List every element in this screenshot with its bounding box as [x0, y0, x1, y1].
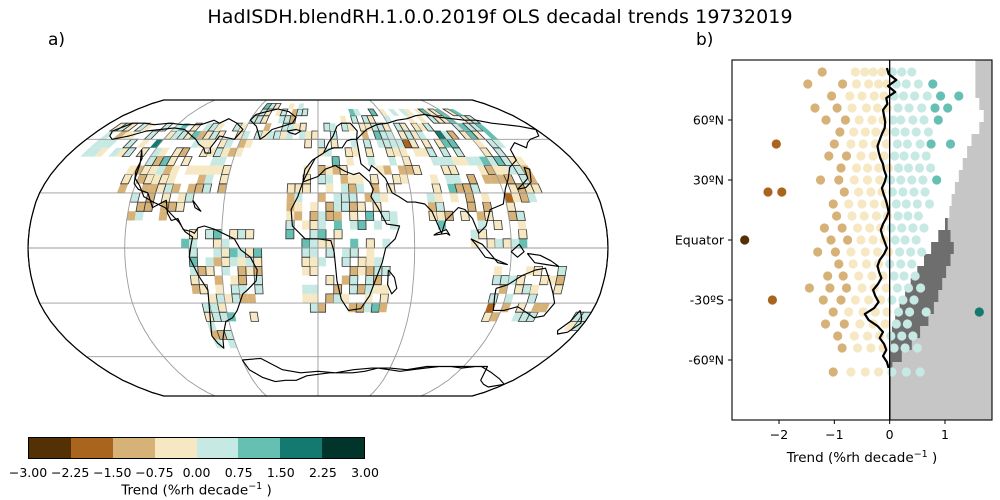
trend-gridcell	[181, 239, 189, 248]
trend-point	[819, 295, 828, 304]
trend-point	[907, 67, 916, 76]
trend-point	[844, 199, 853, 208]
trend-point	[845, 91, 854, 100]
trend-gridcell	[373, 285, 381, 294]
trend-point	[846, 367, 855, 376]
trend-point	[861, 127, 870, 136]
trend-gridcell	[318, 211, 326, 220]
colorbar-label-suffix: )	[262, 483, 272, 499]
trend-point	[899, 151, 908, 160]
trend-gridcell	[324, 123, 330, 131]
trend-gridcell	[254, 266, 262, 275]
trend-point	[917, 247, 926, 256]
trend-point	[936, 91, 945, 100]
trend-point	[839, 271, 848, 280]
trend-gridcell	[302, 221, 310, 230]
trend-point	[916, 367, 925, 376]
colorbar-tick-label: −2.25	[51, 465, 89, 480]
trend-gridcell	[222, 257, 230, 266]
trend-gridcell	[255, 285, 263, 294]
trend-point	[838, 79, 847, 88]
trend-gridcell	[487, 239, 495, 248]
trend-gridcell	[238, 230, 246, 239]
trend-gridcell	[310, 202, 318, 211]
trend-gridcell	[310, 266, 318, 275]
colorbar-tick-label: 0.75	[225, 465, 253, 480]
trend-gridcell	[221, 239, 229, 248]
trend-point	[878, 115, 887, 124]
trend-gridcell	[222, 266, 231, 275]
trend-point	[925, 199, 934, 208]
trend-point	[834, 259, 843, 268]
colorbar-segment-7	[322, 438, 364, 458]
trend-point	[849, 127, 858, 136]
trend-gridcell	[310, 257, 318, 266]
y-tick-label: 60ºN	[693, 113, 724, 128]
trend-point	[855, 319, 864, 328]
trend-point	[825, 283, 834, 292]
trend-point	[909, 295, 918, 304]
trend-gridcell	[221, 248, 229, 257]
trend-point	[912, 127, 921, 136]
trend-point	[847, 211, 856, 220]
trend-point	[903, 211, 912, 220]
panel-b-label: b)	[696, 30, 713, 50]
trend-point	[874, 163, 883, 172]
trend-gridcell	[248, 294, 257, 303]
trend-point	[893, 103, 902, 112]
trend-point	[922, 307, 931, 316]
colorbar-ticks: −3.00−2.25−1.50−0.750.000.751.502.253.00	[28, 459, 365, 477]
colorbar-axis-label: Trend (%rh decade−1 )	[28, 481, 365, 499]
trend-point	[834, 175, 843, 184]
trend-point	[901, 343, 910, 352]
trend-point	[916, 283, 925, 292]
trend-point	[847, 103, 856, 112]
colorbar-tick-label: −3.00	[9, 465, 47, 480]
colorbar-segment-2	[113, 438, 155, 458]
trend-point	[874, 367, 883, 376]
trend-gridcell	[202, 184, 212, 193]
trend-gridcell	[318, 257, 326, 266]
trend-point	[918, 175, 927, 184]
trend-gridcell	[310, 248, 318, 257]
trend-gridcell	[239, 285, 248, 294]
trend-gridcell	[318, 139, 325, 148]
colorbar-tick-label: 1.50	[267, 465, 295, 480]
trend-gridcell	[231, 285, 240, 294]
trend-point	[943, 103, 952, 112]
trend-gridcell	[380, 294, 389, 303]
trend-gridcell	[302, 109, 308, 116]
trend-gridcell	[348, 175, 356, 184]
trend-point	[833, 331, 842, 340]
trend-gridcell	[229, 248, 237, 257]
trend-point	[919, 223, 928, 232]
trend-point	[897, 331, 906, 340]
trend-point	[844, 307, 853, 316]
trend-point	[908, 115, 917, 124]
colorbar	[28, 437, 365, 459]
trend-point	[927, 139, 936, 148]
trend-point	[772, 139, 781, 148]
trend-gridcell	[380, 193, 389, 202]
trend-point	[916, 139, 925, 148]
trend-point	[821, 319, 830, 328]
trend-gridcell	[366, 211, 374, 220]
trend-point	[907, 259, 916, 268]
trend-point	[824, 151, 833, 160]
trend-gridcell	[215, 285, 224, 294]
trend-point	[842, 151, 851, 160]
trend-point	[890, 151, 899, 160]
trend-gridcell	[503, 239, 511, 248]
trend-point	[906, 247, 915, 256]
trend-gridcell	[366, 248, 374, 257]
trend-point	[850, 175, 859, 184]
trend-gridcell	[357, 202, 365, 211]
trend-point	[840, 187, 849, 196]
trend-point	[854, 187, 863, 196]
trend-gridcell	[465, 193, 475, 202]
trend-point	[877, 67, 886, 76]
trend-point	[849, 259, 858, 268]
trend-gridcell	[349, 202, 357, 211]
trend-point	[854, 271, 863, 280]
trend-gridcell	[135, 211, 144, 220]
trend-point	[892, 319, 901, 328]
trend-gridcell	[246, 266, 254, 275]
trend-gridcell	[341, 184, 349, 193]
trend-point	[855, 115, 864, 124]
trend-gridcell	[495, 239, 503, 248]
trend-point	[924, 127, 933, 136]
trend-point	[909, 187, 918, 196]
trend-gridcell	[358, 257, 366, 266]
trend-point	[820, 223, 829, 232]
map-panel	[8, 52, 628, 422]
trend-point	[934, 115, 943, 124]
colorbar-segment-5	[238, 438, 280, 458]
trend-gridcell	[445, 211, 454, 220]
trend-gridcell	[302, 285, 310, 294]
trend-gridcell	[429, 211, 438, 220]
trend-gridcell	[345, 148, 353, 157]
trend-gridcell	[555, 276, 565, 285]
trend-gridcell	[318, 230, 326, 239]
trend-point	[852, 163, 861, 172]
trend-gridcell	[310, 230, 318, 239]
trend-point	[803, 79, 812, 88]
trend-point	[777, 187, 786, 196]
trend-gridcell	[511, 239, 519, 248]
trend-gridcell	[557, 266, 566, 275]
colorbar-label-prefix: Trend (%rh decade	[121, 483, 248, 499]
trend-point	[891, 235, 900, 244]
trend-gridcell	[436, 202, 445, 211]
colorbar-tick-label: 3.00	[351, 465, 379, 480]
trend-point	[907, 175, 916, 184]
colorbar-segment-1	[71, 438, 113, 458]
trend-point	[915, 163, 924, 172]
zonal-trend-scatter: 60ºN30ºNEquator-30ºS-60ºN−2−101Trend (%r…	[660, 52, 1000, 500]
trend-point	[865, 223, 874, 232]
figure-root: HadISDH.blendRH.1.0.0.2019f OLS decadal …	[0, 0, 1000, 500]
trend-point	[867, 115, 876, 124]
colorbar-panel: −3.00−2.25−1.50−0.750.000.751.502.253.00…	[8, 437, 628, 497]
trend-gridcell	[326, 202, 334, 211]
trend-point	[932, 175, 941, 184]
trend-point	[887, 367, 896, 376]
world-trend-map	[8, 52, 628, 422]
trend-point	[853, 343, 862, 352]
trend-gridcell	[358, 221, 366, 230]
trend-point	[897, 67, 906, 76]
y-tick-label: -30ºS	[690, 293, 724, 308]
trend-point	[898, 295, 907, 304]
trend-gridcell	[379, 303, 388, 312]
trend-gridcell	[334, 221, 342, 230]
trend-point	[851, 295, 860, 304]
x-tick-label: 0	[886, 427, 894, 442]
trend-gridcell	[370, 175, 379, 184]
trend-point	[831, 247, 840, 256]
trend-gridcell	[346, 157, 354, 166]
trend-point	[873, 103, 882, 112]
trend-point	[826, 235, 835, 244]
trend-gridcell	[334, 211, 342, 220]
trend-point	[862, 103, 871, 112]
trend-point	[887, 223, 896, 232]
trend-point	[901, 127, 910, 136]
colorbar-tick-label: 2.25	[309, 465, 337, 480]
trend-gridcell	[213, 257, 221, 266]
trend-gridcell	[332, 166, 340, 175]
trend-gridcell	[358, 266, 366, 275]
trend-gridcell	[478, 221, 487, 230]
trend-gridcell	[357, 285, 365, 294]
trend-gridcell	[206, 266, 215, 275]
trend-point	[914, 211, 923, 220]
trend-gridcell	[300, 123, 307, 131]
trend-gridcell	[238, 276, 247, 285]
colorbar-tick-label: −1.50	[93, 465, 131, 480]
trend-point	[846, 139, 855, 148]
trend-point	[870, 91, 879, 100]
trend-gridcell	[214, 276, 223, 285]
trend-point	[930, 103, 939, 112]
trend-point	[881, 319, 890, 328]
trend-gridcell	[519, 230, 528, 239]
colorbar-segment-6	[280, 438, 322, 458]
trend-point	[853, 223, 862, 232]
colorbar-segment-0	[29, 438, 71, 458]
trend-point	[740, 235, 749, 244]
trend-gridcell	[350, 248, 358, 257]
trend-gridcell	[238, 257, 246, 266]
colorbar-segment-3	[155, 438, 197, 458]
trend-point	[829, 307, 838, 316]
trend-gridcell	[191, 285, 200, 294]
trend-gridcell	[310, 285, 318, 294]
trend-point	[922, 151, 931, 160]
trend-gridcell	[250, 312, 259, 321]
trend-gridcell	[342, 202, 350, 211]
trend-gridcell	[326, 184, 334, 193]
trend-gridcell	[334, 230, 342, 239]
trend-point	[886, 331, 895, 340]
trend-point	[901, 235, 910, 244]
trend-gridcell	[310, 294, 318, 303]
x-tick-label: −1	[825, 427, 843, 442]
trend-point	[872, 211, 881, 220]
trend-point	[908, 331, 917, 340]
trend-point	[864, 79, 873, 88]
y-tick-label: -60ºN	[688, 353, 724, 368]
trend-point	[887, 295, 896, 304]
trend-point	[911, 271, 920, 280]
trend-point	[856, 235, 865, 244]
trend-gridcell	[318, 221, 326, 230]
trend-gridcell	[294, 202, 302, 211]
trend-point	[919, 115, 928, 124]
trend-point	[975, 307, 984, 316]
trend-gridcell	[516, 211, 526, 220]
trend-point	[829, 199, 838, 208]
trend-gridcell	[310, 303, 318, 312]
trend-point	[768, 295, 777, 304]
colorbar-segment-4	[197, 438, 239, 458]
trend-point	[830, 139, 839, 148]
trend-point	[846, 247, 855, 256]
trend-point	[842, 283, 851, 292]
trend-gridcell	[302, 248, 310, 257]
trend-point	[921, 187, 930, 196]
trend-gridcell	[331, 139, 338, 148]
trend-gridcell	[342, 248, 350, 257]
trend-point	[857, 283, 866, 292]
trend-gridcell	[213, 248, 221, 257]
trend-gridcell	[350, 266, 358, 275]
trend-gridcell	[286, 202, 294, 211]
trend-gridcell	[286, 230, 294, 239]
trend-point	[923, 91, 932, 100]
trend-gridcell	[494, 221, 503, 230]
trend-gridcell	[350, 276, 358, 285]
trend-point	[914, 79, 923, 88]
trend-gridcell	[303, 184, 311, 193]
trend-gridcell	[310, 211, 318, 220]
trend-point	[894, 163, 903, 172]
trend-gridcell	[312, 131, 318, 139]
trend-gridcell	[326, 211, 334, 220]
trend-point	[896, 259, 905, 268]
trend-point	[946, 139, 955, 148]
trend-point	[893, 211, 902, 220]
trend-point	[861, 247, 870, 256]
trend-gridcell	[230, 257, 238, 266]
trend-point	[904, 103, 913, 112]
trend-gridcell	[334, 202, 342, 211]
trend-point	[841, 115, 850, 124]
trend-gridcell	[325, 175, 333, 184]
trend-gridcell	[366, 276, 374, 285]
trend-point	[827, 91, 836, 100]
trend-gridcell	[287, 184, 295, 193]
trend-point	[954, 91, 963, 100]
trend-gridcell	[310, 239, 318, 248]
trend-point	[873, 247, 882, 256]
colorbar-tick-label: −0.75	[135, 465, 173, 480]
trend-point	[903, 319, 912, 328]
trend-gridcell	[310, 221, 318, 230]
trend-gridcell	[287, 193, 295, 202]
trend-point	[899, 91, 908, 100]
trend-point	[903, 139, 912, 148]
y-tick-label: Equator	[675, 233, 725, 248]
trend-point	[851, 67, 860, 76]
trend-point	[869, 67, 878, 76]
trend-gridcell	[426, 193, 435, 202]
scatter-axis-label: Trend (%rh decade−1 )	[786, 449, 938, 466]
trend-point	[904, 283, 913, 292]
trend-point	[917, 103, 926, 112]
trend-point	[902, 367, 911, 376]
trend-point	[818, 67, 827, 76]
trend-point	[870, 199, 879, 208]
trend-point	[904, 163, 913, 172]
trend-gridcell	[350, 211, 358, 220]
trend-point	[829, 367, 838, 376]
trend-gridcell	[205, 257, 213, 266]
trend-gridcell	[366, 266, 374, 275]
trend-point	[894, 307, 903, 316]
trend-point	[897, 223, 906, 232]
trend-point	[860, 67, 869, 76]
trend-gridcell	[437, 211, 446, 220]
trend-point	[862, 259, 871, 268]
trend-gridcell	[318, 303, 326, 312]
trend-point	[836, 163, 845, 172]
trend-point	[926, 163, 935, 172]
trend-point	[913, 199, 922, 208]
trend-gridcell	[342, 257, 350, 266]
trend-point	[902, 79, 911, 88]
trend-gridcell	[332, 157, 340, 166]
trend-gridcell	[389, 211, 398, 220]
trend-gridcell	[334, 193, 342, 202]
trend-gridcell	[254, 248, 262, 257]
trend-point	[908, 223, 917, 232]
trend-point	[893, 139, 902, 148]
trend-point	[869, 235, 878, 244]
trend-point	[886, 175, 895, 184]
trend-point	[861, 367, 870, 376]
trend-point	[896, 175, 905, 184]
trend-point	[840, 319, 849, 328]
trend-gridcell	[246, 248, 254, 257]
trend-point	[823, 271, 832, 280]
trend-point	[913, 343, 922, 352]
trend-point	[857, 199, 866, 208]
trend-gridcell	[386, 184, 395, 193]
trend-point	[810, 103, 819, 112]
trend-gridcell	[190, 276, 199, 285]
trend-gridcell	[159, 211, 168, 220]
trend-point	[866, 343, 875, 352]
trend-gridcell	[428, 202, 437, 211]
trend-gridcell	[302, 294, 310, 303]
